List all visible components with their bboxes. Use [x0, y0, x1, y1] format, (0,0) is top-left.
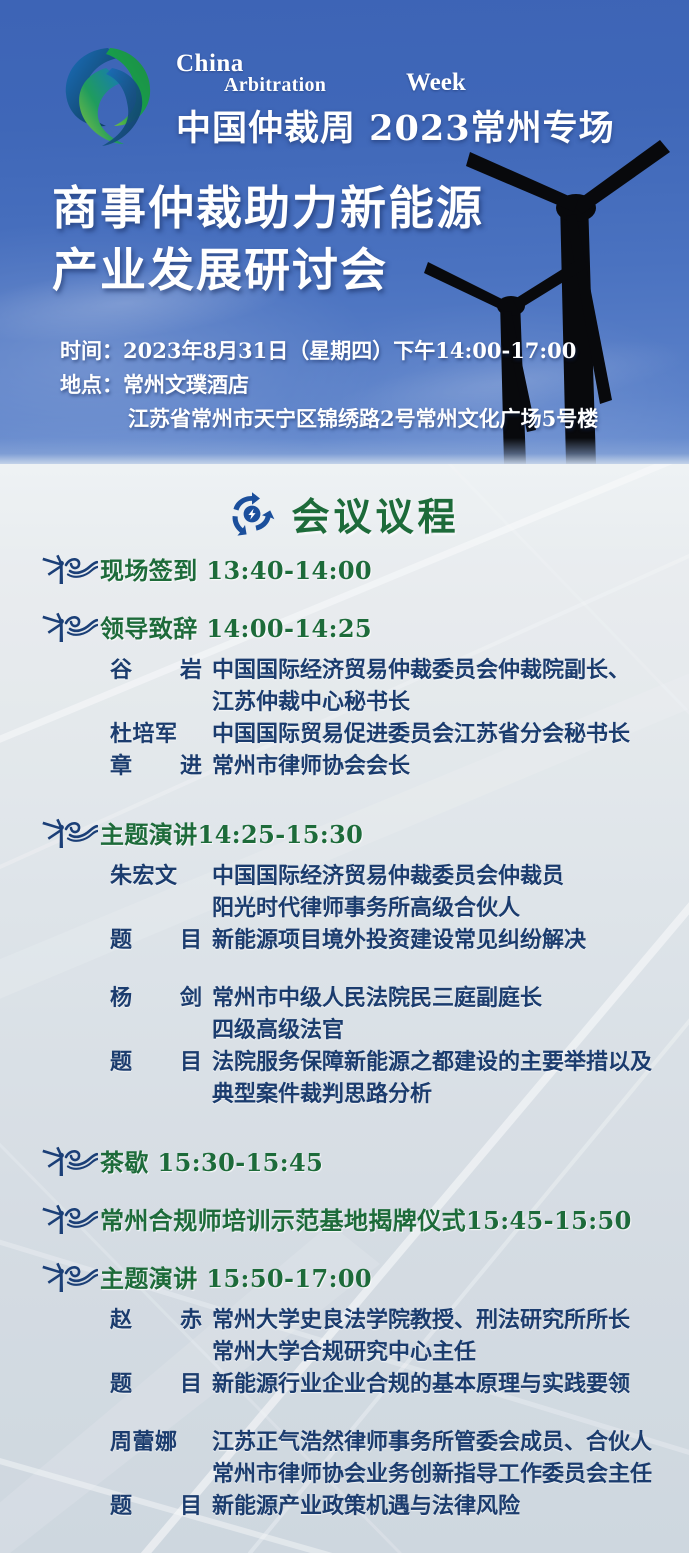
wind-turbine-icon	[40, 611, 98, 643]
wind-turbine-icon	[40, 1203, 98, 1235]
agenda-row-name: 题目	[110, 1044, 202, 1076]
agenda-row-detail: 中国国际经济贸易仲裁委员会仲裁员	[202, 858, 564, 890]
agenda-row-name: 周蕾娜	[110, 1424, 202, 1456]
section-spacer	[0, 780, 689, 810]
agenda-section-header: 主题演讲14:25-15:30	[0, 810, 689, 854]
agenda-row-detail: 法院服务保障新能源之都建设的主要举措以及	[202, 1044, 652, 1076]
agenda-row-detail: 常州市中级人民法院民三庭副庭长	[202, 980, 542, 1012]
agenda-row: 赵赤常州大学史良法学院教授、刑法研究所所长	[110, 1302, 689, 1334]
agenda-section-block: 领导致辞 14:00-14:25谷岩中国国际经济贸易仲裁委员会仲裁院副长、江苏仲…	[0, 604, 689, 810]
event-address: 江苏省常州市天宁区锦绣路2号常州文化广场5号楼	[60, 402, 680, 436]
banner-bottom-fade	[0, 438, 689, 464]
agenda-row-detail: 新能源项目境外投资建设常见纠纷解决	[202, 922, 586, 954]
agenda-row-detail: 典型案件裁判思路分析	[202, 1076, 432, 1108]
agenda-rows: 朱宏文中国国际经济贸易仲裁委员会仲裁员阳光时代律师事务所高级合伙人题目新能源项目…	[0, 854, 689, 1108]
agenda-row-detail: 江苏正气浩然律师事务所管委会成员、合伙人	[202, 1424, 652, 1456]
agenda-row-name: 题目	[110, 922, 202, 954]
agenda-row: 题目法院服务保障新能源之都建设的主要举措以及	[110, 1044, 689, 1076]
agenda-row-detail: 常州大学合规研究中心主任	[202, 1334, 476, 1366]
page-title-line2: 产业发展研讨会	[52, 240, 652, 302]
energy-recycle-icon	[229, 491, 275, 537]
agenda-row-name: 谷岩	[110, 652, 202, 684]
agenda-section: 会议议程 现场签到 13:40-14:00 领导致辞 14:00-14:25谷岩…	[0, 464, 689, 1553]
agenda-row-name: 杨剑	[110, 980, 202, 1012]
section-spacer	[0, 590, 689, 604]
agenda-section-block: 主题演讲 15:50-17:00赵赤常州大学史良法学院教授、刑法研究所所长常州大…	[0, 1254, 689, 1550]
agenda-row: 谷岩中国国际经济贸易仲裁委员会仲裁院副长、	[110, 652, 689, 684]
agenda-row-detail: 常州市律师协会业务创新指导工作委员会主任	[202, 1456, 652, 1488]
wind-turbine-icon	[40, 817, 98, 849]
page-title: 商事仲裁助力新能源 产业发展研讨会	[52, 178, 652, 302]
agenda-row: 杜培军中国国际贸易促进委员会江苏省分会秘书长	[110, 716, 689, 748]
agenda-row: 题目新能源项目境外投资建设常见纠纷解决	[110, 922, 689, 954]
event-meta: 时间：2023年8月31日（星期四）下午14:00-17:00 地点：常州文璞酒…	[60, 334, 680, 436]
agenda-row-detail: 中国国际贸易促进委员会江苏省分会秘书长	[202, 716, 630, 748]
agenda-section-header: 常州合规师培训示范基地揭牌仪式15:45-15:50	[0, 1196, 689, 1240]
agenda-row: 题目新能源行业企业合规的基本原理与实践要领	[110, 1366, 689, 1398]
wind-turbine-icon	[40, 1261, 98, 1293]
agenda-section-label: 茶歇 15:30-15:45	[100, 1143, 323, 1178]
agenda-section-label: 主题演讲14:25-15:30	[100, 815, 363, 850]
agenda-row: 常州大学合规研究中心主任	[110, 1334, 689, 1366]
agenda-row: 四级高级法官	[110, 1012, 689, 1044]
wind-turbine-icon	[40, 553, 98, 585]
page-title-line1: 商事仲裁助力新能源	[52, 178, 652, 240]
agenda-section-label: 现场签到 13:40-14:00	[100, 551, 372, 586]
agenda-row: 典型案件裁判思路分析	[110, 1076, 689, 1108]
section-spacer	[0, 1108, 689, 1138]
agenda-row: 杨剑常州市中级人民法院民三庭副庭长	[110, 980, 689, 1012]
agenda-row: 阳光时代律师事务所高级合伙人	[110, 890, 689, 922]
agenda-row: 周蕾娜江苏正气浩然律师事务所管委会成员、合伙人	[110, 1424, 689, 1456]
agenda-row: 江苏仲裁中心秘书长	[110, 684, 689, 716]
agenda-section-block: 茶歇 15:30-15:45	[0, 1138, 689, 1196]
agenda-title: 会议议程	[291, 486, 459, 541]
agenda-row-detail: 四级高级法官	[202, 1012, 344, 1044]
event-time: 时间：2023年8月31日（星期四）下午14:00-17:00	[60, 334, 680, 368]
wind-turbine-icon	[40, 1145, 98, 1177]
agenda-row-name: 题目	[110, 1366, 202, 1398]
agenda-row-detail: 常州大学史良法学院教授、刑法研究所所长	[202, 1302, 630, 1334]
agenda-row-detail: 阳光时代律师事务所高级合伙人	[202, 890, 520, 922]
agenda-row-detail: 常州市律师协会会长	[202, 748, 410, 780]
section-spacer	[0, 1240, 689, 1254]
banner: China Arbitration Week 中国仲裁周 2023常州专场 商事…	[0, 0, 689, 464]
agenda-row-detail: 新能源产业政策机遇与法律风险	[202, 1488, 520, 1520]
agenda-row: 章进常州市律师协会会长	[110, 748, 689, 780]
poster-root: China Arbitration Week 中国仲裁周 2023常州专场 商事…	[0, 0, 689, 1553]
section-spacer	[0, 1182, 689, 1196]
logo	[62, 44, 154, 150]
agenda-row-name: 杜培军	[110, 716, 202, 748]
agenda-row-detail: 江苏仲裁中心秘书长	[202, 684, 410, 716]
event-place: 地点：常州文璞酒店	[60, 368, 680, 402]
agenda-row-name: 章进	[110, 748, 202, 780]
agenda-rows: 谷岩中国国际经济贸易仲裁委员会仲裁院副长、江苏仲裁中心秘书长杜培军中国国际贸易促…	[0, 648, 689, 780]
agenda-section-block: 常州合规师培训示范基地揭牌仪式15:45-15:50	[0, 1196, 689, 1254]
agenda-section-label: 主题演讲 15:50-17:00	[100, 1259, 372, 1294]
agenda-row-detail: 新能源行业企业合规的基本原理与实践要领	[202, 1366, 630, 1398]
agenda-section-label: 领导致辞 14:00-14:25	[100, 609, 372, 644]
row-spacer	[110, 1398, 689, 1424]
agenda-rows: 赵赤常州大学史良法学院教授、刑法研究所所长常州大学合规研究中心主任题目新能源行业…	[0, 1298, 689, 1520]
section-spacer	[0, 1520, 689, 1550]
agenda-list: 现场签到 13:40-14:00 领导致辞 14:00-14:25谷岩中国国际经…	[0, 546, 689, 1550]
agenda-row: 题目新能源产业政策机遇与法律风险	[110, 1488, 689, 1520]
agenda-row-name: 题目	[110, 1488, 202, 1520]
banner-chinese-subtitle: 中国仲裁周 2023常州专场	[176, 100, 615, 151]
agenda-section-header: 主题演讲 15:50-17:00	[0, 1254, 689, 1298]
row-spacer	[110, 954, 689, 980]
agenda-row: 朱宏文中国国际经济贸易仲裁委员会仲裁员	[110, 858, 689, 890]
caw-week-text: Week	[406, 69, 466, 97]
agenda-section-block: 现场签到 13:40-14:00	[0, 546, 689, 604]
agenda-section-block: 主题演讲14:25-15:30朱宏文中国国际经济贸易仲裁委员会仲裁员阳光时代律师…	[0, 810, 689, 1138]
agenda-header: 会议议程	[0, 486, 689, 541]
agenda-section-header: 现场签到 13:40-14:00	[0, 546, 689, 590]
agenda-row: 常州市律师协会业务创新指导工作委员会主任	[110, 1456, 689, 1488]
china-arbitration-week-wordmark: China Arbitration Week	[176, 48, 596, 106]
agenda-row-detail: 中国国际经济贸易仲裁委员会仲裁院副长、	[202, 652, 630, 684]
agenda-row-name: 赵赤	[110, 1302, 202, 1334]
caw-arbitration-text: Arbitration	[224, 74, 326, 97]
agenda-row-name: 朱宏文	[110, 858, 202, 890]
china-arbitration-week-logo-icon	[62, 44, 154, 150]
agenda-section-label: 常州合规师培训示范基地揭牌仪式15:45-15:50	[100, 1201, 632, 1236]
agenda-section-header: 领导致辞 14:00-14:25	[0, 604, 689, 648]
agenda-section-header: 茶歇 15:30-15:45	[0, 1138, 689, 1182]
